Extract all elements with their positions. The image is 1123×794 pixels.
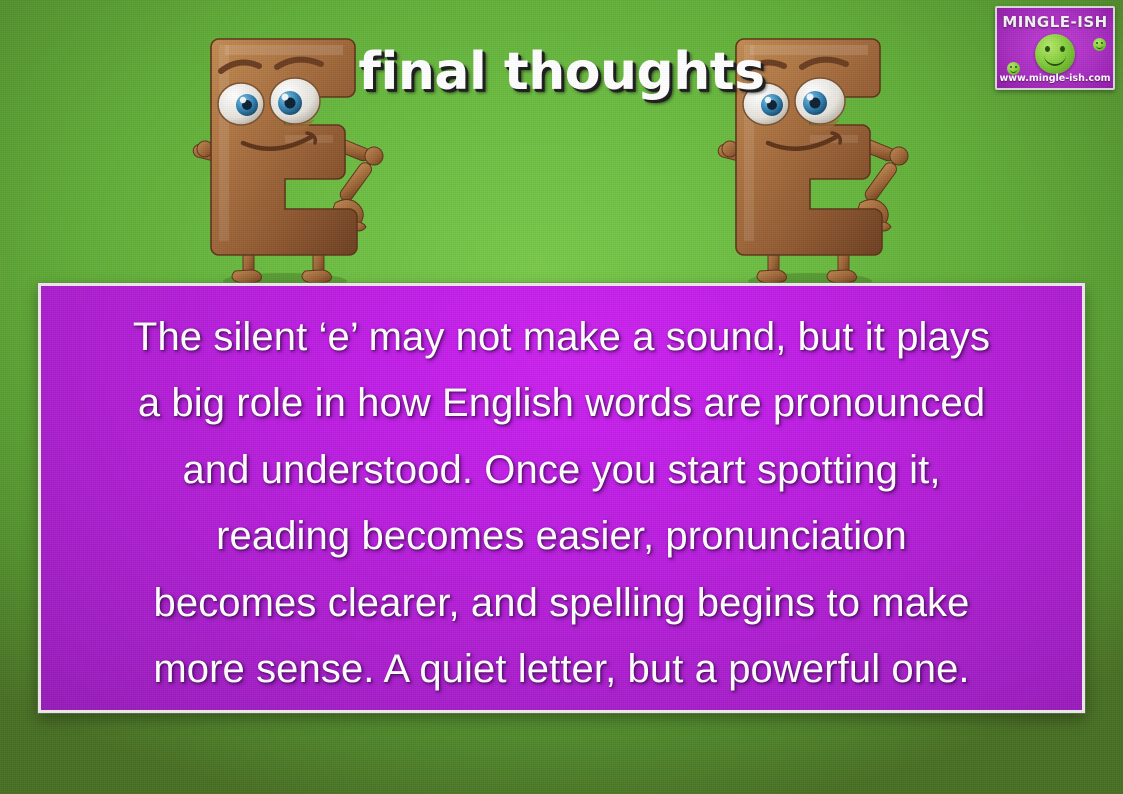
body-line: reading becomes easier, pronunciation <box>51 503 1072 569</box>
smiley-mouth <box>1044 53 1066 66</box>
page-title: final thoughts <box>0 42 1123 102</box>
smiley-face-icon <box>1035 34 1075 74</box>
smiley-eye-left <box>1045 46 1050 52</box>
panel-body-text: The silent ‘e’ may not make a sound, but… <box>51 304 1072 702</box>
small-smiley-mouth <box>1096 44 1103 49</box>
logo-brand-name: MINGLE-ISH <box>997 13 1113 31</box>
body-line: a big role in how English words are pron… <box>51 370 1072 436</box>
logo-website-url[interactable]: www.mingle-ish.com <box>997 73 1113 84</box>
body-line: and understood. Once you start spotting … <box>51 437 1072 503</box>
body-line: becomes clearer, and spelling begins to … <box>51 570 1072 636</box>
content-panel: The silent ‘e’ may not make a sound, but… <box>38 283 1085 713</box>
body-line: The silent ‘e’ may not make a sound, but… <box>51 304 1072 370</box>
slide-canvas: final thoughts <box>0 0 1123 794</box>
smiley-eye-right <box>1060 46 1065 52</box>
body-line: more sense. A quiet letter, but a powerf… <box>51 636 1072 702</box>
small-smiley-icon-right <box>1093 38 1106 51</box>
mingle-ish-logo[interactable]: MINGLE-ISH www.mingle-ish.com <box>995 6 1115 90</box>
